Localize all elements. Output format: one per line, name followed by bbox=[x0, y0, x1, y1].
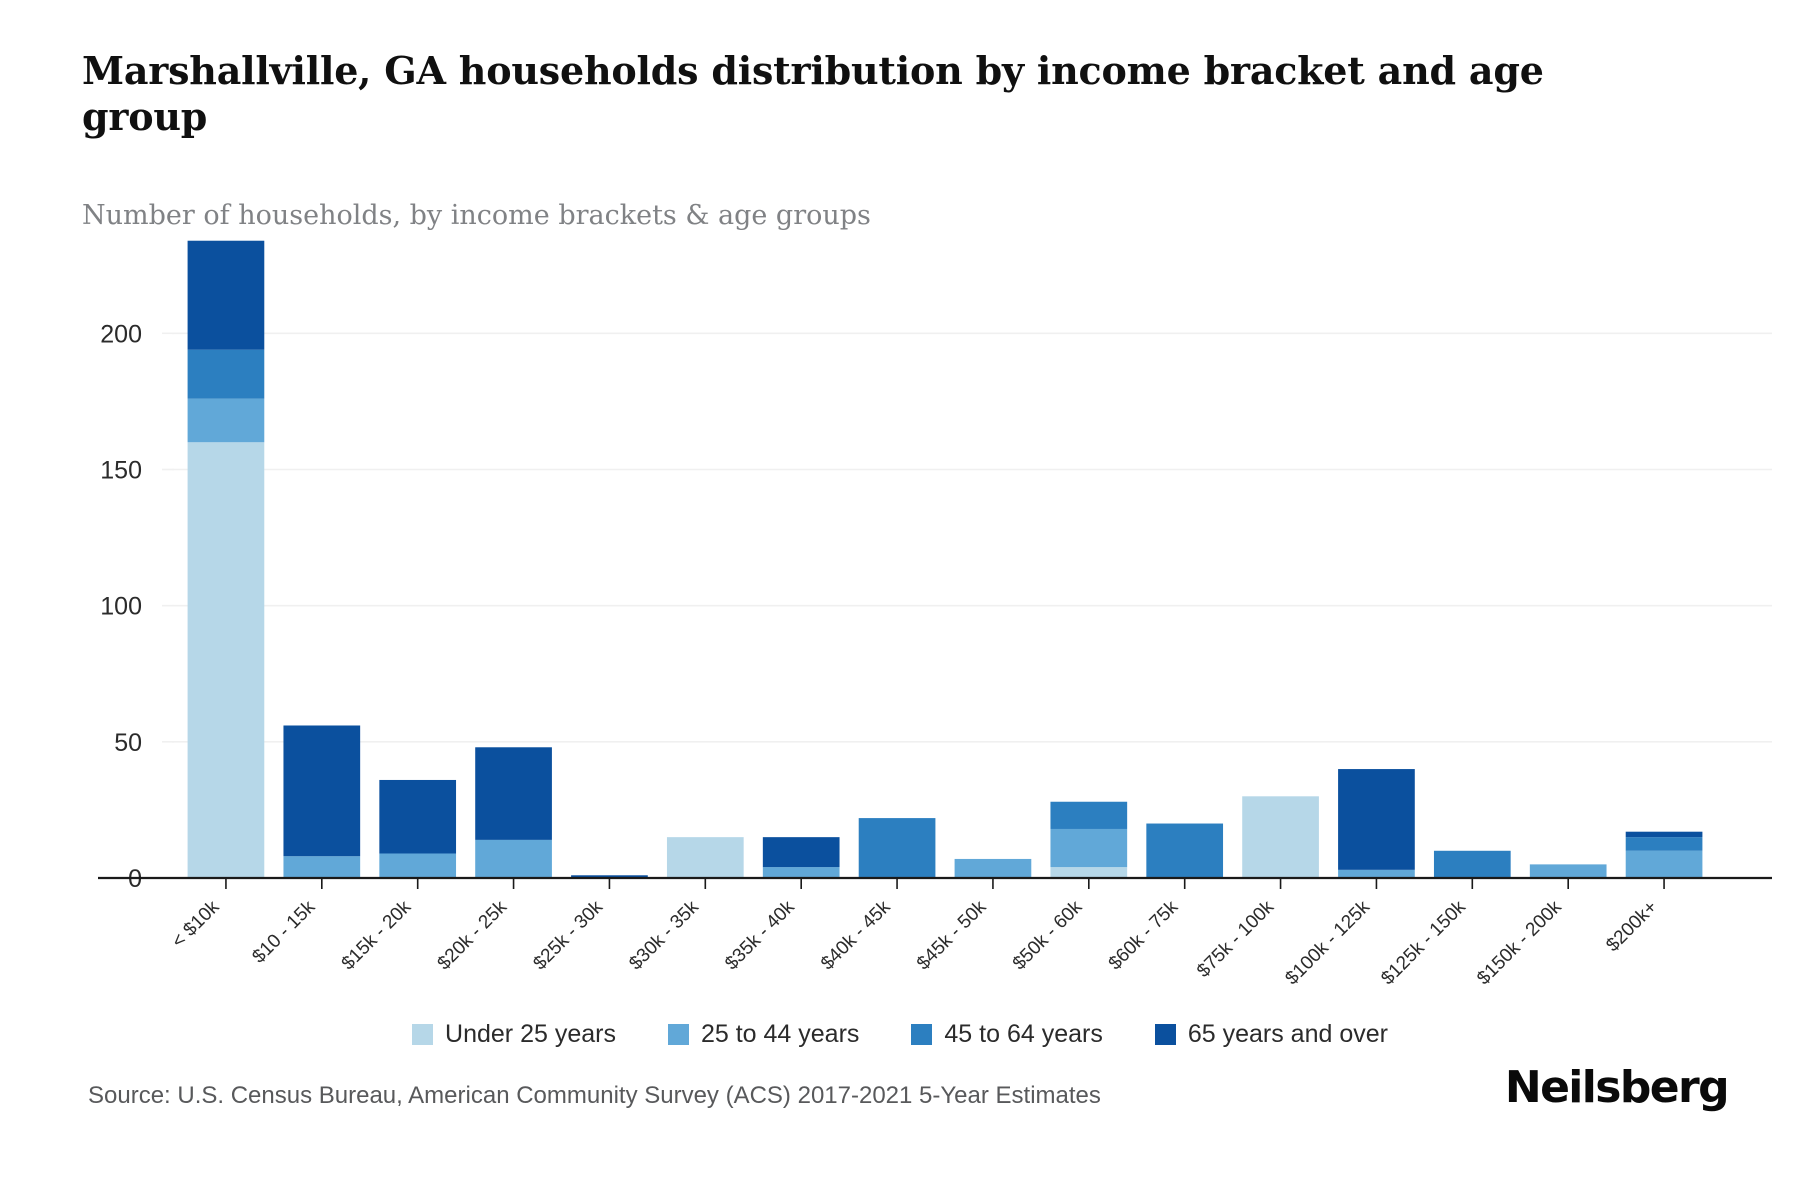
bar-segment[interactable] bbox=[1242, 796, 1319, 878]
bar-segment[interactable] bbox=[475, 840, 552, 878]
y-axis-tick-label: 100 bbox=[100, 593, 142, 621]
bar-segment[interactable] bbox=[955, 859, 1032, 878]
bar-segment[interactable] bbox=[188, 442, 265, 878]
bar-segment[interactable] bbox=[1626, 837, 1703, 851]
bar-segment[interactable] bbox=[475, 747, 552, 840]
bar-segment[interactable] bbox=[1338, 870, 1415, 878]
bar-segment[interactable] bbox=[1434, 851, 1511, 878]
x-axis-tick-label: $125k - 150k bbox=[1377, 896, 1470, 989]
x-axis-tick-label: $15k - 20k bbox=[338, 896, 416, 974]
bar-segment[interactable] bbox=[1626, 832, 1703, 837]
legend-swatch-icon bbox=[1155, 1024, 1176, 1045]
bar-segment[interactable] bbox=[1338, 769, 1415, 870]
x-axis-tick-label: $75k - 100k bbox=[1193, 896, 1278, 981]
bar-segment[interactable] bbox=[1530, 864, 1607, 878]
legend-item[interactable]: 65 years and over bbox=[1155, 1020, 1388, 1049]
legend-item-label: 65 years and over bbox=[1188, 1020, 1388, 1049]
legend-item[interactable]: 25 to 44 years bbox=[668, 1020, 859, 1049]
x-axis-tick-label: $40k - 45k bbox=[817, 896, 895, 974]
legend-item-label: 45 to 64 years bbox=[944, 1020, 1102, 1049]
x-axis-tick-label: $25k - 30k bbox=[529, 896, 607, 974]
x-axis-tick-label: < $10k bbox=[168, 896, 224, 952]
y-axis-tick-label: 150 bbox=[100, 456, 142, 484]
source-note: Source: U.S. Census Bureau, American Com… bbox=[88, 1082, 1101, 1110]
legend-swatch-icon bbox=[911, 1024, 932, 1045]
bar-segment[interactable] bbox=[188, 350, 265, 399]
bar-segment[interactable] bbox=[379, 853, 456, 878]
bar-segment[interactable] bbox=[859, 818, 936, 878]
x-axis-tick-label: $200k+ bbox=[1602, 897, 1661, 956]
bar-segment[interactable] bbox=[188, 241, 265, 350]
bar-segment[interactable] bbox=[188, 399, 265, 443]
chart-legend: Under 25 years25 to 44 years45 to 64 yea… bbox=[0, 1020, 1800, 1049]
x-axis-tick-label: $20k - 25k bbox=[434, 896, 512, 974]
bar-segment[interactable] bbox=[1146, 824, 1223, 878]
x-axis-tick-label: $150k - 200k bbox=[1473, 896, 1566, 989]
bar-segment[interactable] bbox=[1050, 802, 1127, 829]
x-axis-tick-label: $50k - 60k bbox=[1009, 896, 1087, 974]
x-axis-tick-label: $30k - 35k bbox=[625, 896, 703, 974]
chart-page: Marshallville, GA households distributio… bbox=[0, 0, 1800, 1200]
x-axis-tick-label: $60k - 75k bbox=[1105, 896, 1183, 974]
x-axis-tick-label: $35k - 40k bbox=[721, 896, 799, 974]
bar-segment[interactable] bbox=[667, 837, 744, 878]
legend-item[interactable]: 45 to 64 years bbox=[911, 1020, 1102, 1049]
x-axis-tick-label: $10 - 15k bbox=[248, 896, 319, 967]
bar-segment[interactable] bbox=[283, 856, 360, 878]
y-axis-tick-label: 50 bbox=[114, 729, 142, 757]
legend-swatch-icon bbox=[412, 1024, 433, 1045]
bar-segment[interactable] bbox=[763, 837, 840, 867]
bar-segment[interactable] bbox=[283, 725, 360, 856]
legend-item[interactable]: Under 25 years bbox=[412, 1020, 616, 1049]
legend-swatch-icon bbox=[668, 1024, 689, 1045]
bar-segment[interactable] bbox=[1626, 851, 1703, 878]
brand-logo: Neilsberg bbox=[1505, 1062, 1728, 1113]
bar-segment[interactable] bbox=[1050, 867, 1127, 878]
bar-segment[interactable] bbox=[763, 867, 840, 878]
x-axis-tick-label: $45k - 50k bbox=[913, 896, 991, 974]
legend-item-label: Under 25 years bbox=[445, 1020, 616, 1049]
bar-segment[interactable] bbox=[1050, 829, 1127, 867]
bar-segment[interactable] bbox=[379, 780, 456, 854]
legend-item-label: 25 to 44 years bbox=[701, 1020, 859, 1049]
x-axis-tick-label: $100k - 125k bbox=[1281, 896, 1374, 989]
y-axis-tick-label: 200 bbox=[100, 320, 142, 348]
